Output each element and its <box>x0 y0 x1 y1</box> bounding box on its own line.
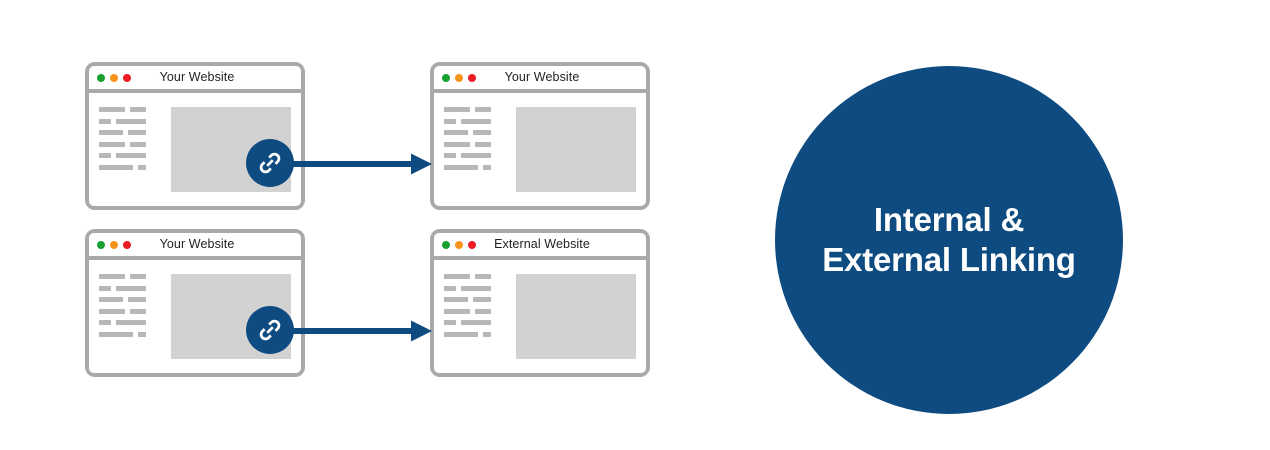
browser-titlebar: Your Website <box>89 66 301 93</box>
traffic-light-dots <box>442 74 476 82</box>
traffic-light-green-dot <box>97 241 105 249</box>
placeholder-text-row <box>444 153 506 158</box>
chain-link-icon-badge <box>246 306 294 354</box>
placeholder-text-bar <box>99 165 133 170</box>
placeholder-text-bar <box>444 274 470 279</box>
placeholder-text-bar <box>138 165 146 170</box>
placeholder-text-bar <box>99 142 125 147</box>
placeholder-text-row <box>99 153 161 158</box>
callout-circle: Internal & External Linking <box>775 66 1123 414</box>
placeholder-text-bar <box>444 332 478 337</box>
callout-label: Internal & External Linking <box>808 200 1090 281</box>
placeholder-text-row <box>444 274 506 279</box>
browser-window-target-external: External Website <box>430 229 650 377</box>
traffic-light-orange-dot <box>110 241 118 249</box>
placeholder-text-bar <box>128 130 146 135</box>
traffic-light-red-dot <box>123 241 131 249</box>
placeholder-text-bar <box>99 297 123 302</box>
traffic-light-red-dot <box>468 74 476 82</box>
placeholder-text-bar <box>461 119 491 124</box>
traffic-light-orange-dot <box>455 241 463 249</box>
placeholder-text-bar <box>444 320 456 325</box>
placeholder-text-bar <box>444 142 470 147</box>
traffic-light-orange-dot <box>110 74 118 82</box>
placeholder-text-bar <box>475 142 491 147</box>
placeholder-text-bar <box>99 107 125 112</box>
placeholder-text-bar <box>130 309 146 314</box>
placeholder-text-bar <box>128 297 146 302</box>
placeholder-text-bar <box>116 153 146 158</box>
placeholder-text-bar <box>99 309 125 314</box>
placeholder-text-bar <box>475 107 491 112</box>
placeholder-text-row <box>444 297 506 302</box>
placeholder-text-bar <box>475 274 491 279</box>
traffic-light-dots <box>97 241 131 249</box>
placeholder-text-bar <box>99 119 111 124</box>
placeholder-text-bar <box>130 107 146 112</box>
placeholder-text-row <box>99 309 161 314</box>
traffic-light-green-dot <box>442 74 450 82</box>
placeholder-text-column <box>444 105 506 196</box>
placeholder-text-bar <box>461 286 491 291</box>
placeholder-text-bar <box>116 320 146 325</box>
placeholder-text-bar <box>444 165 478 170</box>
placeholder-image-block <box>516 107 636 192</box>
placeholder-text-column <box>444 272 506 363</box>
placeholder-text-row <box>99 119 161 124</box>
placeholder-text-bar <box>99 286 111 291</box>
placeholder-text-bar <box>444 309 470 314</box>
browser-content <box>434 93 646 206</box>
placeholder-text-column <box>99 272 161 363</box>
placeholder-text-bar <box>99 130 123 135</box>
placeholder-text-bar <box>99 332 133 337</box>
browser-window-source-internal: Your Website <box>85 62 305 210</box>
arrow-right-icon <box>285 152 433 181</box>
placeholder-text-bar <box>116 286 146 291</box>
placeholder-text-row <box>444 309 506 314</box>
placeholder-text-row <box>444 130 506 135</box>
diagram-canvas: Your Website Your Website <box>0 0 1270 450</box>
traffic-light-orange-dot <box>455 74 463 82</box>
chain-link-icon <box>256 316 284 344</box>
placeholder-text-bar <box>99 320 111 325</box>
placeholder-text-bar <box>99 153 111 158</box>
placeholder-text-row <box>99 332 161 337</box>
placeholder-text-bar <box>138 332 146 337</box>
placeholder-text-bar <box>444 153 456 158</box>
placeholder-text-bar <box>483 332 491 337</box>
placeholder-text-row <box>444 320 506 325</box>
placeholder-text-row <box>444 119 506 124</box>
browser-window-target-internal: Your Website <box>430 62 650 210</box>
traffic-light-red-dot <box>123 74 131 82</box>
traffic-light-dots <box>97 74 131 82</box>
placeholder-text-bar <box>116 119 146 124</box>
placeholder-text-column <box>99 105 161 196</box>
placeholder-text-bar <box>473 297 491 302</box>
traffic-light-green-dot <box>442 241 450 249</box>
traffic-light-red-dot <box>468 241 476 249</box>
placeholder-text-bar <box>444 130 468 135</box>
browser-window-source-external: Your Website <box>85 229 305 377</box>
placeholder-image-block <box>516 274 636 359</box>
placeholder-text-bar <box>444 286 456 291</box>
placeholder-text-row <box>444 332 506 337</box>
browser-titlebar: External Website <box>434 233 646 260</box>
traffic-light-dots <box>442 241 476 249</box>
browser-content <box>434 260 646 373</box>
traffic-light-green-dot <box>97 74 105 82</box>
placeholder-text-bar <box>130 142 146 147</box>
placeholder-text-bar <box>473 130 491 135</box>
placeholder-text-bar <box>444 297 468 302</box>
placeholder-text-row <box>99 107 161 112</box>
placeholder-text-row <box>99 142 161 147</box>
placeholder-text-row <box>444 286 506 291</box>
placeholder-text-bar <box>483 165 491 170</box>
placeholder-text-bar <box>130 274 146 279</box>
placeholder-text-row <box>99 297 161 302</box>
chain-link-icon-badge <box>246 139 294 187</box>
chain-link-icon <box>256 149 284 177</box>
placeholder-text-row <box>444 107 506 112</box>
placeholder-text-row <box>99 274 161 279</box>
placeholder-text-row <box>99 130 161 135</box>
browser-titlebar: Your Website <box>434 66 646 93</box>
browser-titlebar: Your Website <box>89 233 301 260</box>
placeholder-text-row <box>444 142 506 147</box>
placeholder-text-bar <box>461 153 491 158</box>
placeholder-text-bar <box>444 107 470 112</box>
placeholder-text-bar <box>444 119 456 124</box>
placeholder-text-row <box>99 320 161 325</box>
placeholder-text-row <box>444 165 506 170</box>
arrow-right-icon <box>285 319 433 348</box>
placeholder-text-bar <box>461 320 491 325</box>
placeholder-text-row <box>99 165 161 170</box>
placeholder-text-row <box>99 286 161 291</box>
placeholder-text-bar <box>475 309 491 314</box>
placeholder-text-bar <box>99 274 125 279</box>
